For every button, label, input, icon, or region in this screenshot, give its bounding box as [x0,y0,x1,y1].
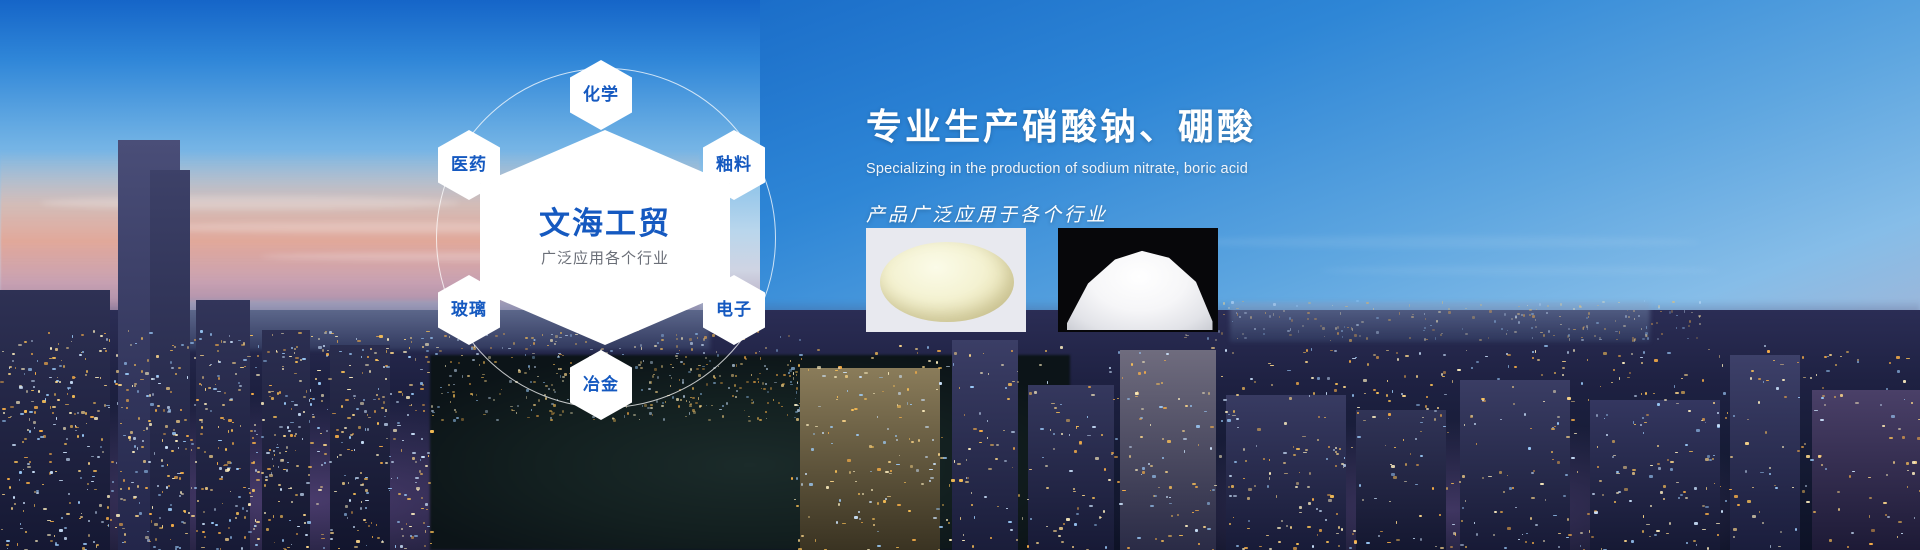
promo-tagline: 产品广泛应用于各个行业 [866,200,1566,227]
hex-node-label: 冶金 [583,376,619,395]
company-tagline: 广泛应用各个行业 [541,251,669,268]
product-photo-sodium-nitrate[interactable] [866,228,1026,332]
powder-pile [1064,244,1214,330]
hex-node-label: 釉料 [716,156,752,175]
promo-headline: 专业生产硝酸钠、硼酸 [866,98,1566,150]
industry-hex-diagram: 化学 釉料 医药 玻璃 电子 冶金 文海工贸 广泛应用各个行业 [418,30,798,450]
product-photo-row [866,228,1218,332]
hex-node-label: 玻璃 [451,301,487,320]
hex-node-label: 化学 [583,86,619,105]
promo-subhead: Specializing in the production of sodium… [866,161,1566,177]
hex-node-label: 医药 [451,156,487,175]
powder-pile [880,242,1014,322]
promo-text-block: 专业生产硝酸钠、硼酸 Specializing in the productio… [866,98,1566,227]
product-photo-boric-acid[interactable] [1058,228,1218,332]
company-name: 文海工贸 [539,207,671,241]
hex-node-label: 电子 [716,301,752,320]
hero-banner: 化学 釉料 医药 玻璃 电子 冶金 文海工贸 广泛应用各个行业 专业生产硝酸钠、… [0,0,1920,550]
